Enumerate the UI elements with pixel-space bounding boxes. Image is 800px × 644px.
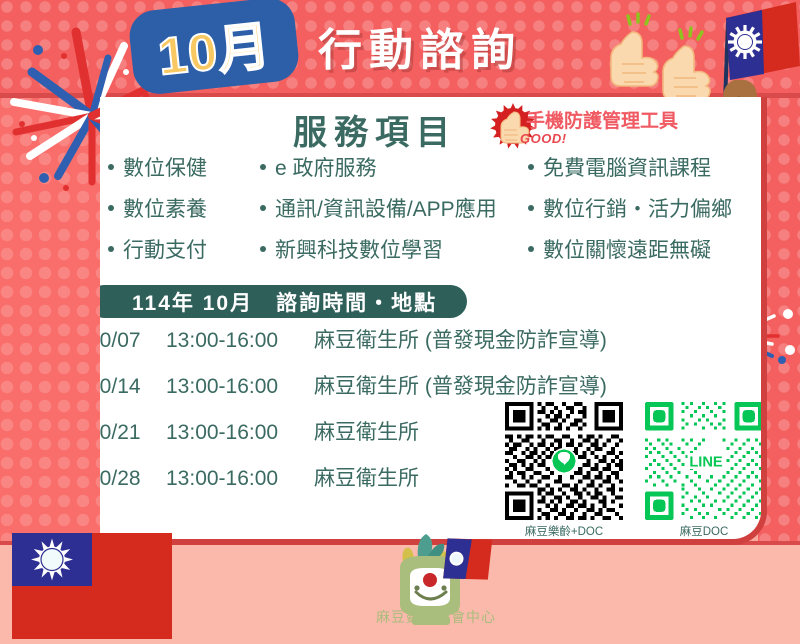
schedule-place: 麻豆衛生所 (314, 462, 419, 492)
schedule-place: 麻豆衛生所 (普發現金防詐宣導) (314, 370, 607, 400)
services-column-3: 免費電腦資訊課程 數位行銷・活力偏鄉 數位關懷遠距無礙 (528, 149, 761, 270)
services-title: 服務項目 (293, 105, 457, 154)
bullet-dot-icon (108, 164, 114, 170)
qr-code-block-line-group[interactable]: 麻豆樂齡+DOC LINE群組 (505, 402, 623, 539)
schedule-date: 10/21 (100, 421, 166, 445)
bullet-dot-icon (528, 164, 534, 170)
service-item: 免費電腦資訊課程 (528, 149, 761, 188)
bullet-dot-icon (260, 205, 266, 211)
service-item: 通訊/資訊設備/APP應用 (260, 190, 528, 229)
qr-caption-line1: 麻豆樂齡+DOC (505, 525, 623, 539)
bullet-dot-icon (260, 164, 266, 170)
qr-code-line-official-icon[interactable]: LINE (645, 402, 761, 520)
organization-name: 麻豆數位機會中心 (341, 607, 531, 627)
service-item-label: e 政府服務 (275, 149, 377, 188)
bullet-dot-icon (528, 205, 534, 211)
svg-text:LINE: LINE (689, 455, 723, 471)
schedule-time: 13:00-16:00 (166, 421, 314, 445)
service-item: 數位素養 (108, 190, 260, 229)
service-item-label: 數位行銷・活力偏鄉 (543, 190, 732, 229)
schedule-date: 10/07 (100, 329, 166, 353)
service-item-label: 通訊/資訊設備/APP應用 (275, 190, 497, 229)
services-column-2: e 政府服務 通訊/資訊設備/APP應用 新興科技數位學習 (260, 149, 528, 270)
schedule-time: 13:00-16:00 (166, 329, 314, 353)
page-title: 行動諮詢 (318, 14, 522, 78)
service-item: 行動支付 (108, 231, 260, 270)
service-item-label: 數位保健 (123, 149, 207, 188)
content-panel: 服務項目 (100, 97, 767, 545)
bullet-dot-icon (528, 246, 534, 252)
schedule-time: 13:00-16:00 (166, 467, 314, 491)
qr-code-line-group-icon[interactable] (505, 402, 623, 520)
qr-caption-line1: 麻豆DOC (645, 525, 761, 539)
schedule-header-pill: 114年 10月 諮詢時間・地點 (100, 285, 467, 318)
service-item-label: 免費電腦資訊課程 (543, 149, 711, 188)
qr-code-section: 麻豆樂齡+DOC LINE群組 (505, 402, 761, 539)
service-item-label: 行動支付 (123, 231, 207, 270)
schedule-date: 10/14 (100, 375, 166, 399)
services-column-1: 數位保健 數位素養 行動支付 (108, 149, 260, 270)
taiwan-flag-icon (12, 533, 172, 639)
schedule-date: 10/28 (100, 467, 166, 491)
tool-badge-label: 手機防護管理工具 (526, 106, 678, 133)
services-list: 數位保健 數位素養 行動支付 e 政府服務 通訊/資訊設備/APP應用 新興科技… (108, 149, 761, 270)
bullet-dot-icon (108, 246, 114, 252)
schedule-place: 麻豆衛生所 (普發現金防詐宣導) (314, 324, 607, 354)
qr-code-caption: 麻豆DOC 官方 LINE @ (645, 525, 761, 539)
service-item-label: 數位關懷遠距無礙 (543, 231, 711, 270)
service-item-label: 新興科技數位學習 (275, 231, 443, 270)
schedule-time: 13:00-16:00 (166, 375, 314, 399)
service-item: 數位行銷・活力偏鄉 (528, 190, 761, 229)
service-item: 數位保健 (108, 149, 260, 188)
bullet-dot-icon (108, 205, 114, 211)
schedule-place: 麻豆衛生所 (314, 416, 419, 446)
qr-code-block-line-official[interactable]: LINE 麻豆DOC 官方 LINE @ (645, 402, 761, 539)
bullet-dot-icon (260, 246, 266, 252)
good-stamp-label: GOOD! (520, 131, 567, 146)
service-item: e 政府服務 (260, 149, 528, 188)
service-item: 數位關懷遠距無礙 (528, 231, 761, 270)
qr-code-caption: 麻豆樂齡+DOC LINE群組 (505, 525, 623, 539)
tool-badge: 手機防護管理工具 (526, 106, 678, 133)
service-item: 新興科技數位學習 (260, 231, 528, 270)
service-item-label: 數位素養 (123, 190, 207, 229)
table-row: 10/07 13:00-16:00 麻豆衛生所 (普發現金防詐宣導) (100, 324, 648, 370)
poster-root: 10月 行動諮詢 (0, 0, 800, 644)
